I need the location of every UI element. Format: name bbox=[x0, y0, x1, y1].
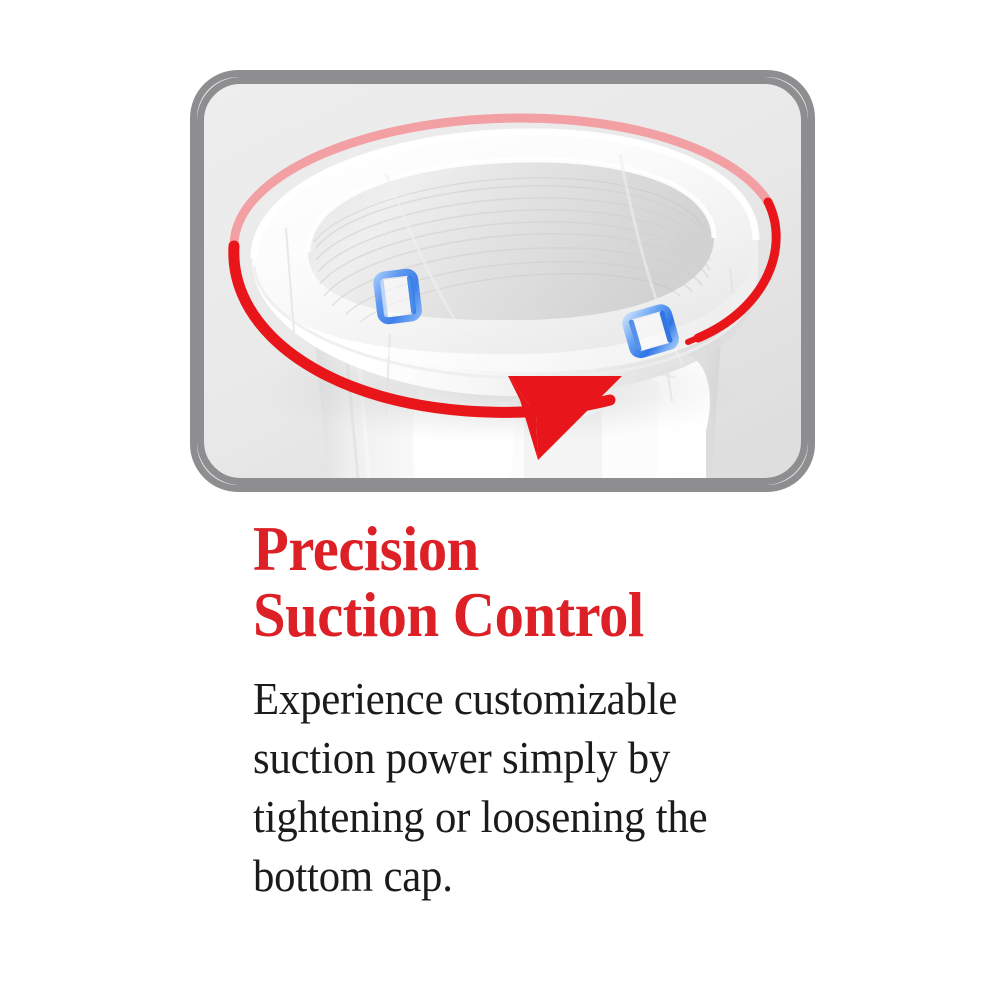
feature-headline: Precision Suction Control bbox=[253, 516, 811, 648]
feature-description: Experience customizable suction power si… bbox=[253, 648, 785, 906]
bottle-cap-illustration bbox=[190, 70, 815, 492]
suction-slot-marker-right bbox=[624, 306, 677, 357]
feature-caption: Precision Suction Control Experience cus… bbox=[253, 516, 853, 906]
suction-slot-marker-left bbox=[376, 271, 419, 321]
infographic-page: Precision Suction Control Experience cus… bbox=[0, 0, 1000, 1000]
product-illustration-panel bbox=[190, 70, 815, 492]
